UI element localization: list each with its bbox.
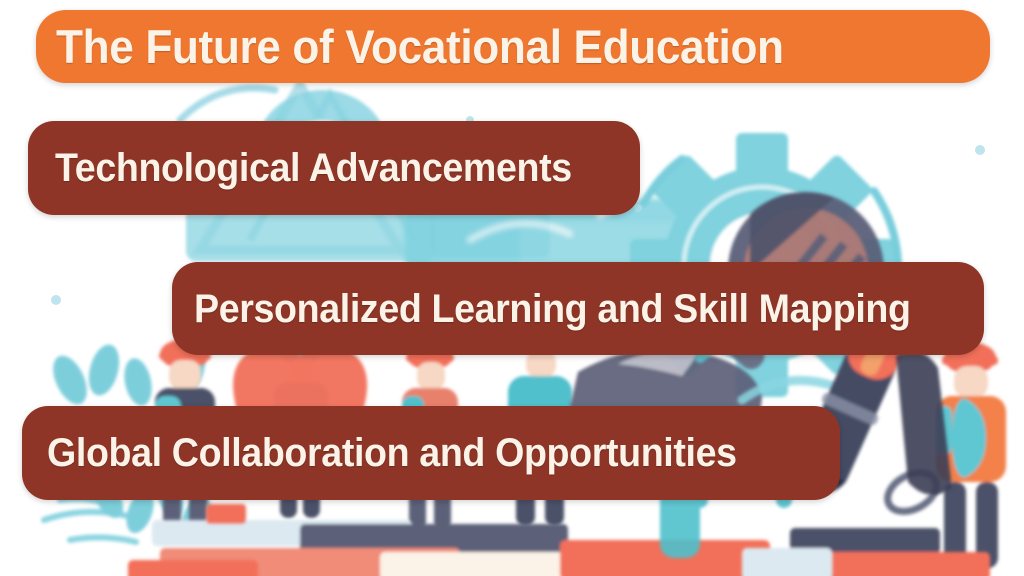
point-label: Technological Advancements [55,148,572,188]
poster-title-banner: The Future of Vocational Education [36,10,990,83]
point-banner-technological-advancements: Technological Advancements [28,121,640,215]
poster-title-text: The Future of Vocational Education [56,23,784,70]
point-label: Global Collaboration and Opportunities [47,433,737,473]
point-label: Personalized Learning and Skill Mapping [194,289,911,329]
point-banner-global-collaboration: Global Collaboration and Opportunities [22,406,840,500]
point-banner-personalized-learning: Personalized Learning and Skill Mapping [172,262,984,355]
poster-canvas: The Future of Vocational Education Techn… [0,0,1024,576]
